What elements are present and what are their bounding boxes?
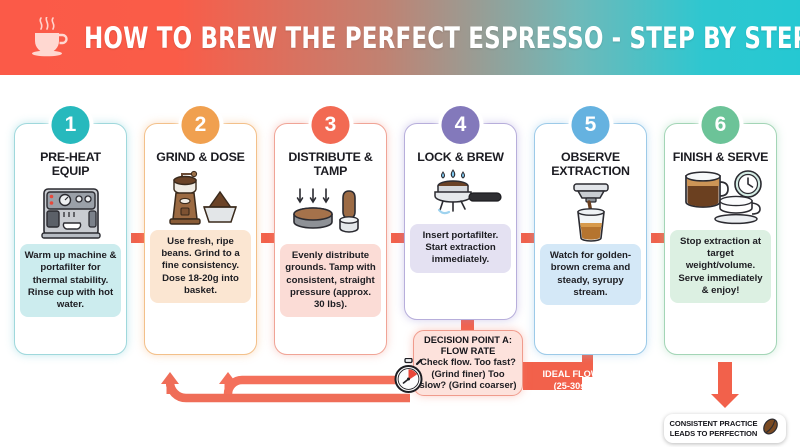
ideal-flow-value: (25-30s)	[528, 381, 614, 393]
decision-heading: DECISION POINT A: FLOW RATE	[419, 335, 517, 356]
step-title-3: DISTRIBUTE & TAMP	[281, 150, 380, 178]
step-description-6: Stop extraction at target weight/volume.…	[670, 230, 771, 303]
status-badge[interactable]: CONSISTENT PRACTICE LEADS TO PERFECTION	[664, 414, 786, 443]
step-number-badge-2: 2	[178, 102, 223, 147]
step-number-2: 2	[182, 106, 220, 144]
coffee-grinder-icon	[151, 168, 250, 230]
badge-line-2: LEADS TO PERFECTION	[670, 429, 758, 438]
step-number-badge-1: 1	[48, 102, 93, 147]
step-description-1: Warm up machine & portafilter for therma…	[20, 244, 121, 317]
extraction-pour-icon	[541, 182, 640, 244]
infographic-canvas: HOW TO BREW THE PERFECT ESPRESSO - STEP …	[0, 0, 800, 447]
step-description-2: Use fresh, ripe beans. Grind to a fine c…	[150, 230, 251, 303]
espresso-glass-clock-icon	[671, 168, 770, 230]
step-number-5: 5	[572, 106, 610, 144]
step-number-badge-5: 5	[568, 102, 613, 147]
step-number-3: 3	[312, 106, 350, 144]
coffee-bean-icon	[761, 417, 780, 441]
step-number-1: 1	[52, 106, 90, 144]
stopwatch-icon	[392, 358, 425, 394]
step-number-badge-3: 3	[308, 102, 353, 147]
step-title-4: LOCK & BREW	[417, 150, 504, 164]
step-title-1: PRE-HEAT EQUIP	[21, 150, 120, 178]
step-title-5: OBSERVE EXTRACTION	[541, 150, 640, 178]
espresso-machine-icon	[21, 182, 120, 244]
step-card-4[interactable]: 4 LOCK & BREW Insert portafilter. Start …	[404, 123, 517, 320]
step-number-badge-6: 6	[698, 102, 743, 147]
badge-text: CONSISTENT PRACTICE LEADS TO PERFECTION	[670, 419, 758, 438]
step-description-4: Insert portafilter. Start extraction imm…	[410, 224, 511, 273]
portafilter-icon	[411, 168, 510, 224]
badge-line-1: CONSISTENT PRACTICE	[670, 419, 758, 428]
step-card-6[interactable]: 6 FINISH & SERVE Stop extraction at targ…	[664, 123, 777, 355]
ideal-flow-title: IDEAL FLOW	[528, 369, 614, 381]
step-title-2: GRIND & DOSE	[156, 150, 244, 164]
ideal-flow-label: IDEAL FLOW (25-30s)	[528, 369, 614, 392]
step-number-4: 4	[442, 106, 480, 144]
step-card-5[interactable]: 5 OBSERVE EXTRACTION Watch for golden-br…	[534, 123, 647, 355]
decision-point-box[interactable]: DECISION POINT A: FLOW RATE Check flow. …	[413, 330, 523, 396]
step-card-3[interactable]: 3 DISTRIBUTE & TAMP Evenly distribute gr…	[274, 123, 387, 355]
step-title-6: FINISH & SERVE	[673, 150, 768, 164]
step-description-5: Watch for golden-brown crema and steady,…	[540, 244, 641, 305]
step-number-badge-4: 4	[438, 102, 483, 147]
step-card-1[interactable]: 1 PRE-HEAT EQUIP Warm up machine & porta…	[14, 123, 127, 355]
tamper-icon	[281, 182, 380, 244]
step-number-6: 6	[702, 106, 740, 144]
decision-body: Check flow. Too fast? (Grind finer) Too …	[419, 356, 517, 390]
step-card-2[interactable]: 2 GRIND & DOSE Use fresh, ripe beans. Gr…	[144, 123, 257, 355]
step-description-3: Evenly distribute grounds. Tamp with con…	[280, 244, 381, 317]
